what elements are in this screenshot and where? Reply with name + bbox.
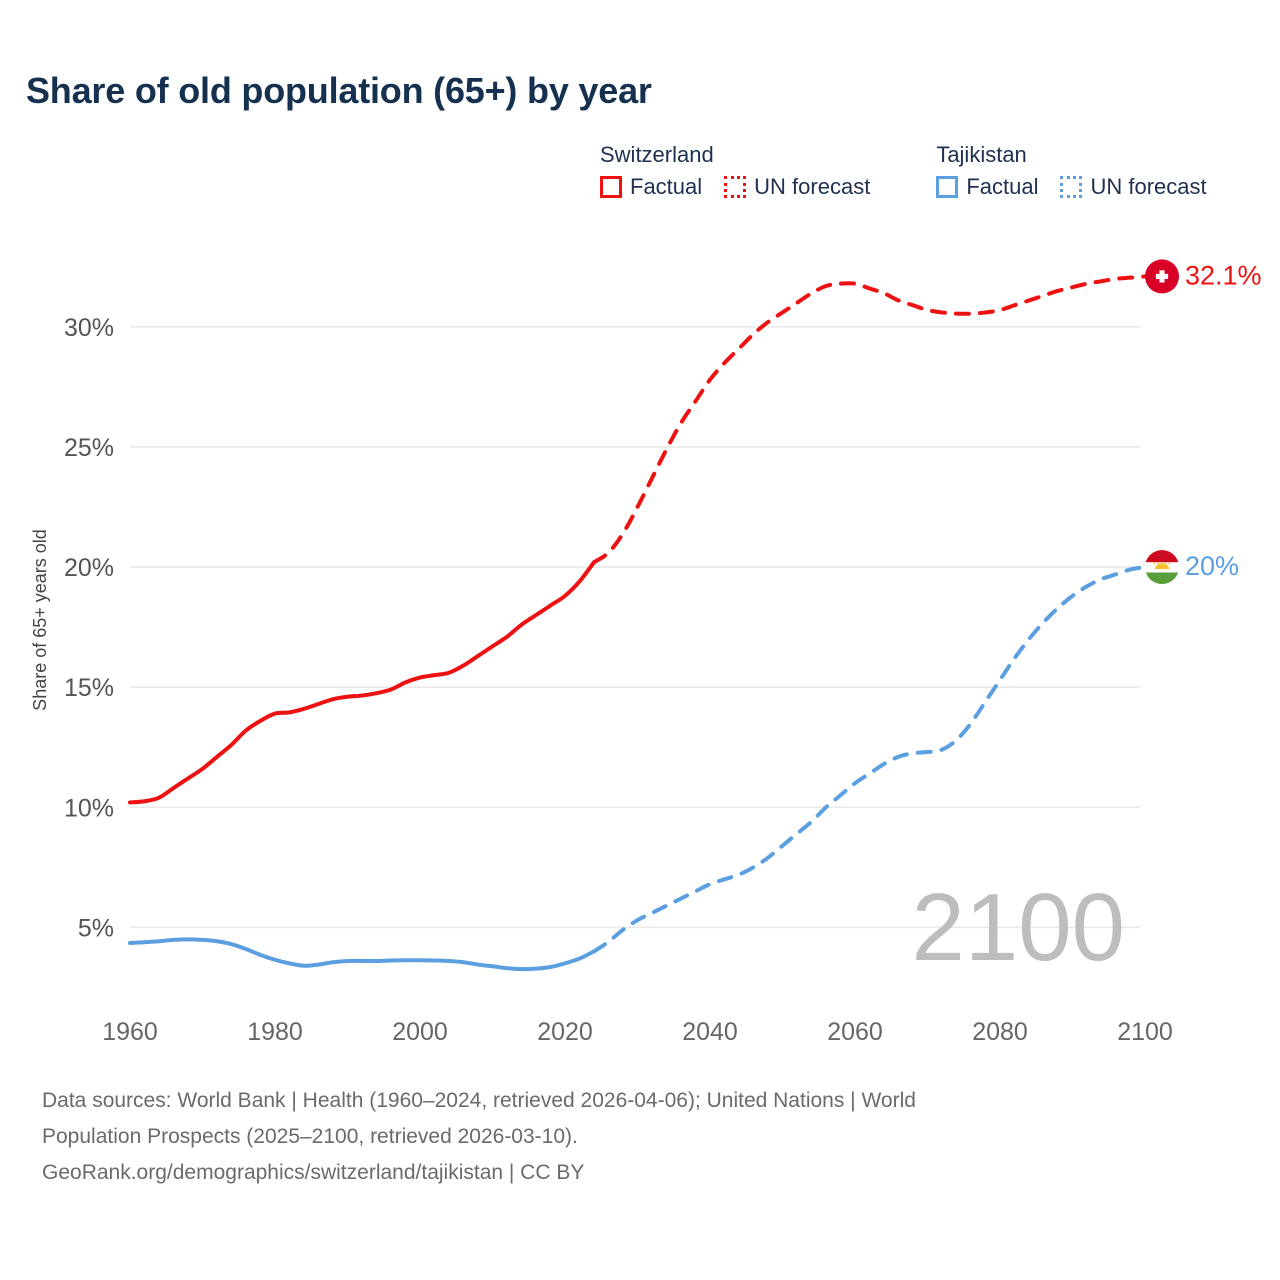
footer-line-3: GeoRank.org/demographics/switzerland/taj… [42, 1155, 1222, 1191]
x-axis-tick-label: 1980 [247, 1018, 303, 1046]
x-axis-tick-label: 2060 [827, 1018, 883, 1046]
series-line-tajikistan-factual [130, 939, 594, 969]
x-axis-tick-label: 1960 [102, 1018, 158, 1046]
end-value-label-switzerland: 32.1% [1185, 261, 1262, 291]
y-axis-tick-labels: 5%10%15%20%25%30% [64, 314, 114, 942]
footer-line-1: Data sources: World Bank | Health (1960–… [42, 1083, 1222, 1119]
y-axis-tick-label: 5% [78, 914, 114, 942]
x-axis-tick-label: 2040 [682, 1018, 738, 1046]
series-lines [130, 276, 1145, 969]
y-axis-tick-label: 15% [64, 674, 114, 702]
y-axis-tick-label: 30% [64, 314, 114, 342]
line-chart-svg: 5%10%15%20%25%30% 1960198020002020204020… [0, 0, 1280, 1070]
y-axis-title: Share of 65+ years old [30, 529, 50, 711]
series-line-switzerland-factual [130, 562, 594, 802]
y-axis-tick-label: 10% [64, 794, 114, 822]
series-end-markers: 32.1%20% [1145, 259, 1262, 584]
y-axis-tick-label: 20% [64, 554, 114, 582]
chart-footer: Data sources: World Bank | Health (1960–… [42, 1083, 1222, 1191]
y-axis-tick-label: 25% [64, 434, 114, 462]
tajikistan-flag-icon [1145, 550, 1179, 584]
x-axis-tick-label: 2020 [537, 1018, 593, 1046]
chart-plot-area: 5%10%15%20%25%30% 1960198020002020204020… [0, 0, 1280, 1070]
x-axis-tick-label: 2100 [1117, 1018, 1173, 1046]
footer-line-2: Population Prospects (2025–2100, retriev… [42, 1119, 1222, 1155]
switzerland-flag-icon [1145, 259, 1179, 293]
gridlines [130, 327, 1140, 927]
x-axis-tick-labels: 19601980200020202040206020802100 [102, 1018, 1173, 1046]
series-line-switzerland-forecast [594, 276, 1145, 562]
x-axis-tick-label: 2000 [392, 1018, 448, 1046]
end-value-label-tajikistan: 20% [1185, 551, 1239, 581]
year-watermark: 2100 [911, 874, 1125, 981]
x-axis-tick-label: 2080 [972, 1018, 1028, 1046]
